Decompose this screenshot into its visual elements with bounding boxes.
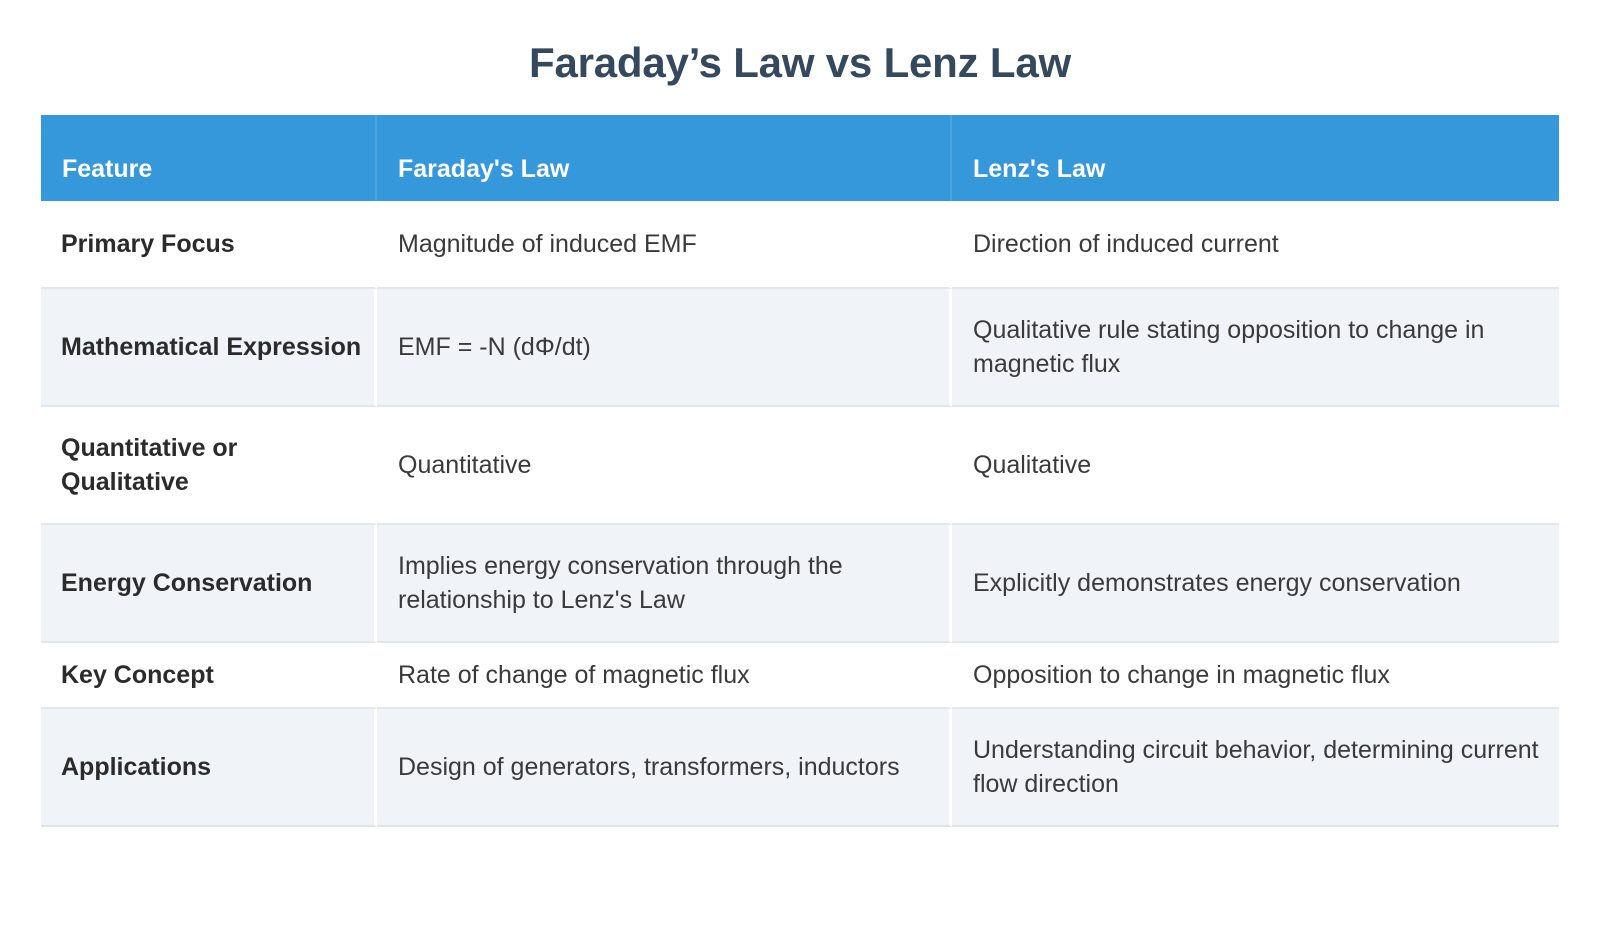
cell-lenz: Explicitly demonstrates energy conservat… <box>952 525 1559 643</box>
table-row: Key Concept Rate of change of magnetic f… <box>41 643 1559 709</box>
column-header-faradays-law[interactable]: Faraday's Law <box>377 115 952 201</box>
page-root: Faraday’s Law vs Lenz Law Feature Farada… <box>0 0 1600 950</box>
table-row: Primary Focus Magnitude of induced EMF D… <box>41 201 1559 289</box>
table-row: Mathematical Expression EMF = -N (dΦ/dt)… <box>41 289 1559 407</box>
table-row: Quantitative or Qualitative Quantitative… <box>41 407 1559 525</box>
table-row: Energy Conservation Implies energy conse… <box>41 525 1559 643</box>
cell-lenz: Understanding circuit behavior, determin… <box>952 709 1559 827</box>
cell-faraday: Design of generators, transformers, indu… <box>377 709 952 827</box>
page-title: Faraday’s Law vs Lenz Law <box>0 40 1600 86</box>
cell-faraday: Quantitative <box>377 407 952 525</box>
cell-feature: Primary Focus <box>41 201 377 289</box>
cell-feature: Key Concept <box>41 643 377 709</box>
table-header: Feature Faraday's Law Lenz's Law <box>41 115 1559 201</box>
table-header-row: Feature Faraday's Law Lenz's Law <box>41 115 1559 201</box>
cell-feature: Mathematical Expression <box>41 289 377 407</box>
cell-lenz: Qualitative <box>952 407 1559 525</box>
cell-lenz: Direction of induced current <box>952 201 1559 289</box>
cell-lenz: Qualitative rule stating opposition to c… <box>952 289 1559 407</box>
comparison-table: Feature Faraday's Law Lenz's Law Primary… <box>41 115 1559 827</box>
cell-faraday: EMF = -N (dΦ/dt) <box>377 289 952 407</box>
column-header-lenzs-law[interactable]: Lenz's Law <box>952 115 1559 201</box>
cell-feature: Quantitative or Qualitative <box>41 407 377 525</box>
cell-lenz: Opposition to change in magnetic flux <box>952 643 1559 709</box>
cell-feature: Energy Conservation <box>41 525 377 643</box>
cell-faraday: Rate of change of magnetic flux <box>377 643 952 709</box>
column-header-feature[interactable]: Feature <box>41 115 377 201</box>
cell-faraday: Magnitude of induced EMF <box>377 201 952 289</box>
table-body: Primary Focus Magnitude of induced EMF D… <box>41 201 1559 827</box>
table-row: Applications Design of generators, trans… <box>41 709 1559 827</box>
cell-feature: Applications <box>41 709 377 827</box>
comparison-table-container: Feature Faraday's Law Lenz's Law Primary… <box>41 115 1559 827</box>
cell-faraday: Implies energy conservation through the … <box>377 525 952 643</box>
